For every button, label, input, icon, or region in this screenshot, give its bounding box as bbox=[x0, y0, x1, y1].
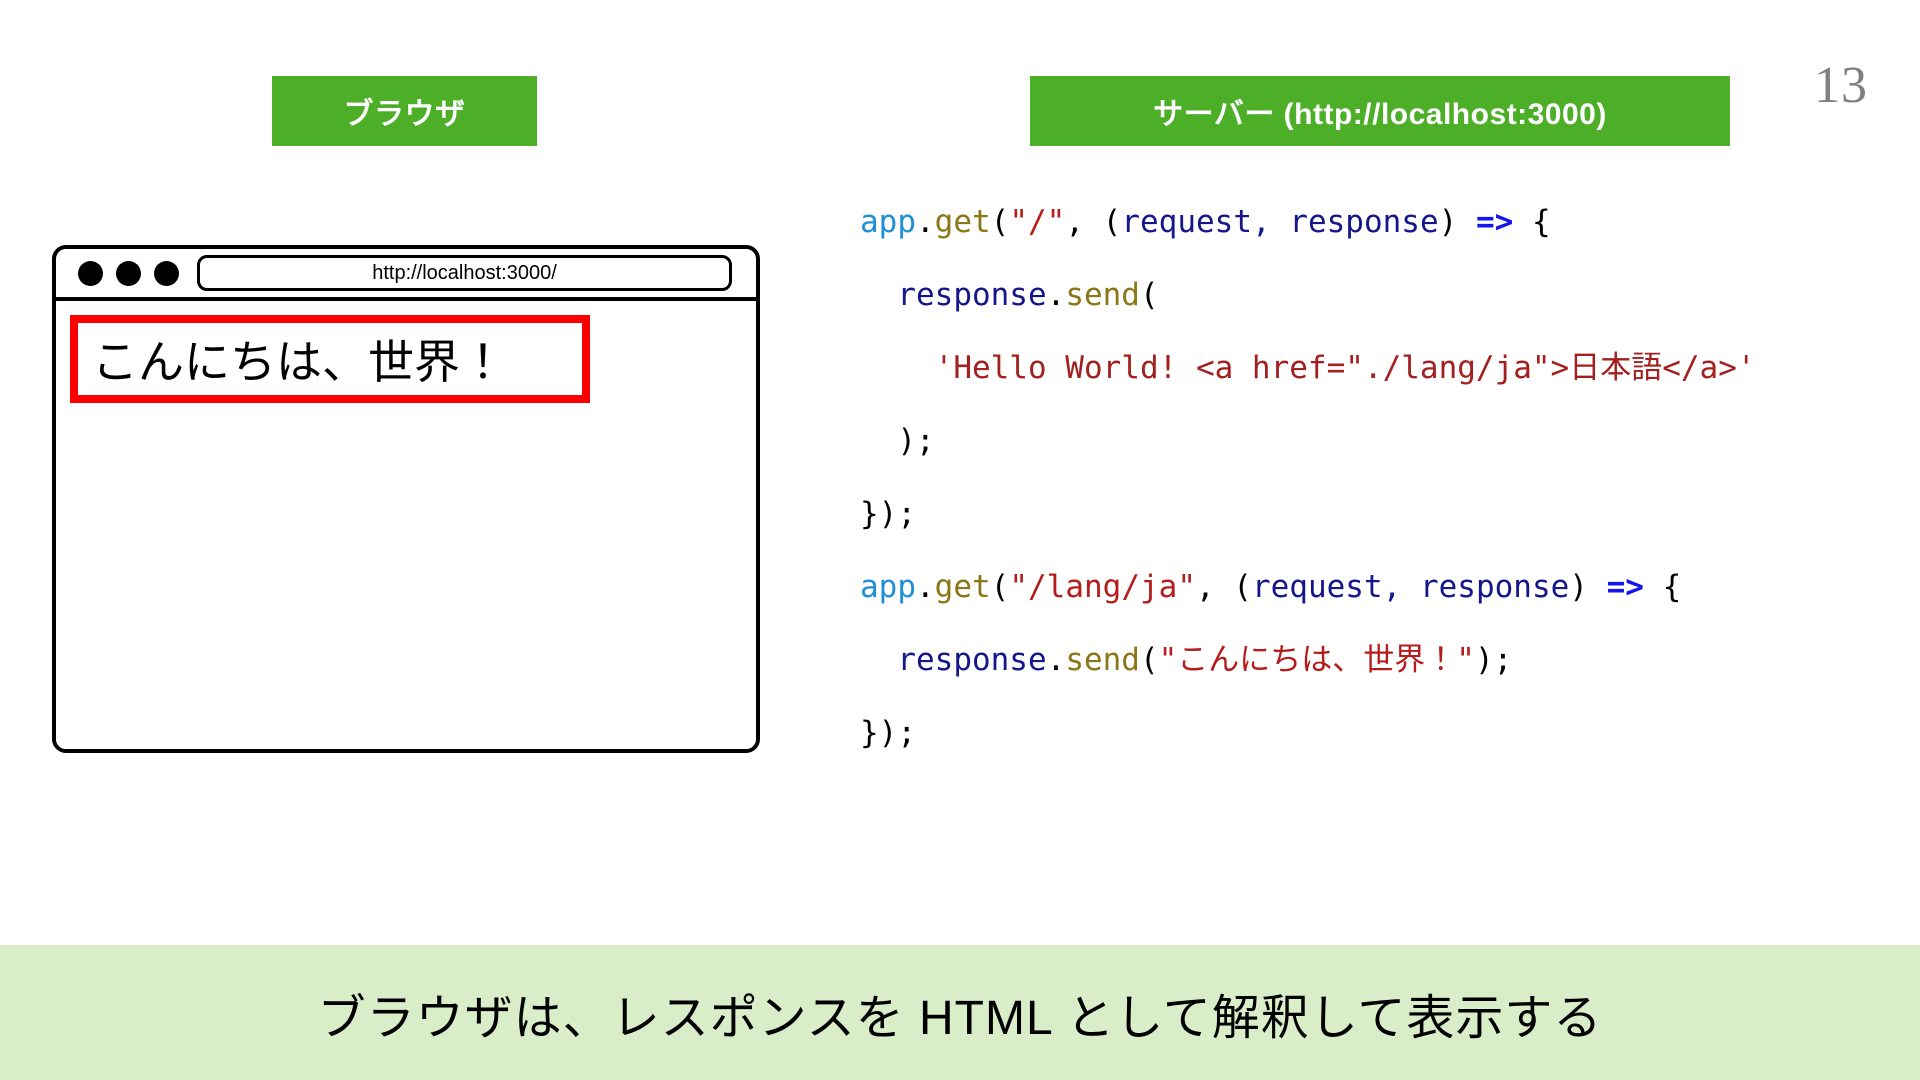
code-token: send bbox=[1065, 642, 1140, 678]
caption-text: ブラウザは、レスポンスを HTML として解釈して表示する bbox=[318, 978, 1603, 1048]
browser-section-chip-label: ブラウザ bbox=[344, 89, 466, 133]
code-token: => bbox=[1607, 569, 1644, 605]
code-token: ( bbox=[1140, 277, 1159, 313]
code-token: { bbox=[1644, 569, 1681, 605]
code-token: ( bbox=[1140, 642, 1159, 678]
code-token: "こんにちは、世界！" bbox=[1159, 642, 1475, 678]
code-token: request, response bbox=[1252, 569, 1569, 605]
code-token: , ( bbox=[1196, 569, 1252, 605]
rendered-page-text: こんにちは、世界！ bbox=[92, 326, 506, 392]
code-token: ) bbox=[1569, 569, 1606, 605]
browser-content-area: こんにちは、世界！ bbox=[56, 301, 756, 749]
rendered-text-highlight: こんにちは、世界！ bbox=[70, 315, 590, 403]
code-line: response.send("こんにちは、世界！"); bbox=[860, 624, 1870, 697]
code-token: app bbox=[860, 204, 916, 240]
code-line: 'Hello World! <a href="./lang/ja">日本語</a… bbox=[860, 332, 1870, 405]
code-line: app.get("/lang/ja", (request, response) … bbox=[860, 551, 1870, 624]
code-token: 'Hello World! <a href="./lang/ja">日本語</a… bbox=[935, 350, 1756, 386]
code-token: . bbox=[1047, 642, 1066, 678]
code-token bbox=[860, 642, 897, 678]
code-token: => bbox=[1476, 204, 1513, 240]
code-token: ) bbox=[1439, 204, 1476, 240]
code-token: ); bbox=[860, 423, 935, 459]
code-token: send bbox=[1065, 277, 1140, 313]
close-dot-icon[interactable] bbox=[78, 261, 103, 286]
code-token: ( bbox=[991, 204, 1010, 240]
window-controls bbox=[78, 261, 179, 286]
code-token: ); bbox=[1475, 642, 1512, 678]
address-bar[interactable]: http://localhost:3000/ bbox=[197, 255, 732, 291]
code-token: app bbox=[860, 569, 916, 605]
code-line: app.get("/", (request, response) => { bbox=[860, 186, 1870, 259]
code-token: request, response bbox=[1121, 204, 1438, 240]
browser-section-chip: ブラウザ bbox=[272, 76, 537, 146]
code-token: , ( bbox=[1065, 204, 1121, 240]
code-token: . bbox=[916, 204, 935, 240]
minimize-dot-icon[interactable] bbox=[116, 261, 141, 286]
browser-titlebar: http://localhost:3000/ bbox=[56, 249, 756, 301]
code-token: get bbox=[935, 569, 991, 605]
code-token: { bbox=[1513, 204, 1550, 240]
code-token bbox=[860, 277, 897, 313]
caption-band: ブラウザは、レスポンスを HTML として解釈して表示する bbox=[0, 945, 1920, 1080]
code-token: }); bbox=[860, 715, 916, 751]
slide-number: 13 bbox=[1814, 60, 1868, 112]
code-token: "/lang/ja" bbox=[1009, 569, 1196, 605]
code-token: . bbox=[1047, 277, 1066, 313]
browser-mock-window: http://localhost:3000/ こんにちは、世界！ bbox=[52, 245, 760, 753]
code-token bbox=[860, 350, 935, 386]
code-line: response.send( bbox=[860, 259, 1870, 332]
code-line: }); bbox=[860, 478, 1870, 551]
address-bar-url: http://localhost:3000/ bbox=[372, 262, 557, 285]
server-section-chip-label: サーバー (http://localhost:3000) bbox=[1153, 89, 1607, 133]
code-line: }); bbox=[860, 697, 1870, 770]
code-token: get bbox=[935, 204, 991, 240]
code-token: . bbox=[916, 569, 935, 605]
maximize-dot-icon[interactable] bbox=[154, 261, 179, 286]
code-token: response bbox=[897, 642, 1046, 678]
code-token: }); bbox=[860, 496, 916, 532]
code-token: ( bbox=[991, 569, 1010, 605]
code-token: response bbox=[897, 277, 1046, 313]
server-code-listing: app.get("/", (request, response) => { re… bbox=[860, 186, 1870, 770]
server-section-chip: サーバー (http://localhost:3000) bbox=[1030, 76, 1730, 146]
code-token: "/" bbox=[1009, 204, 1065, 240]
code-line: ); bbox=[860, 405, 1870, 478]
